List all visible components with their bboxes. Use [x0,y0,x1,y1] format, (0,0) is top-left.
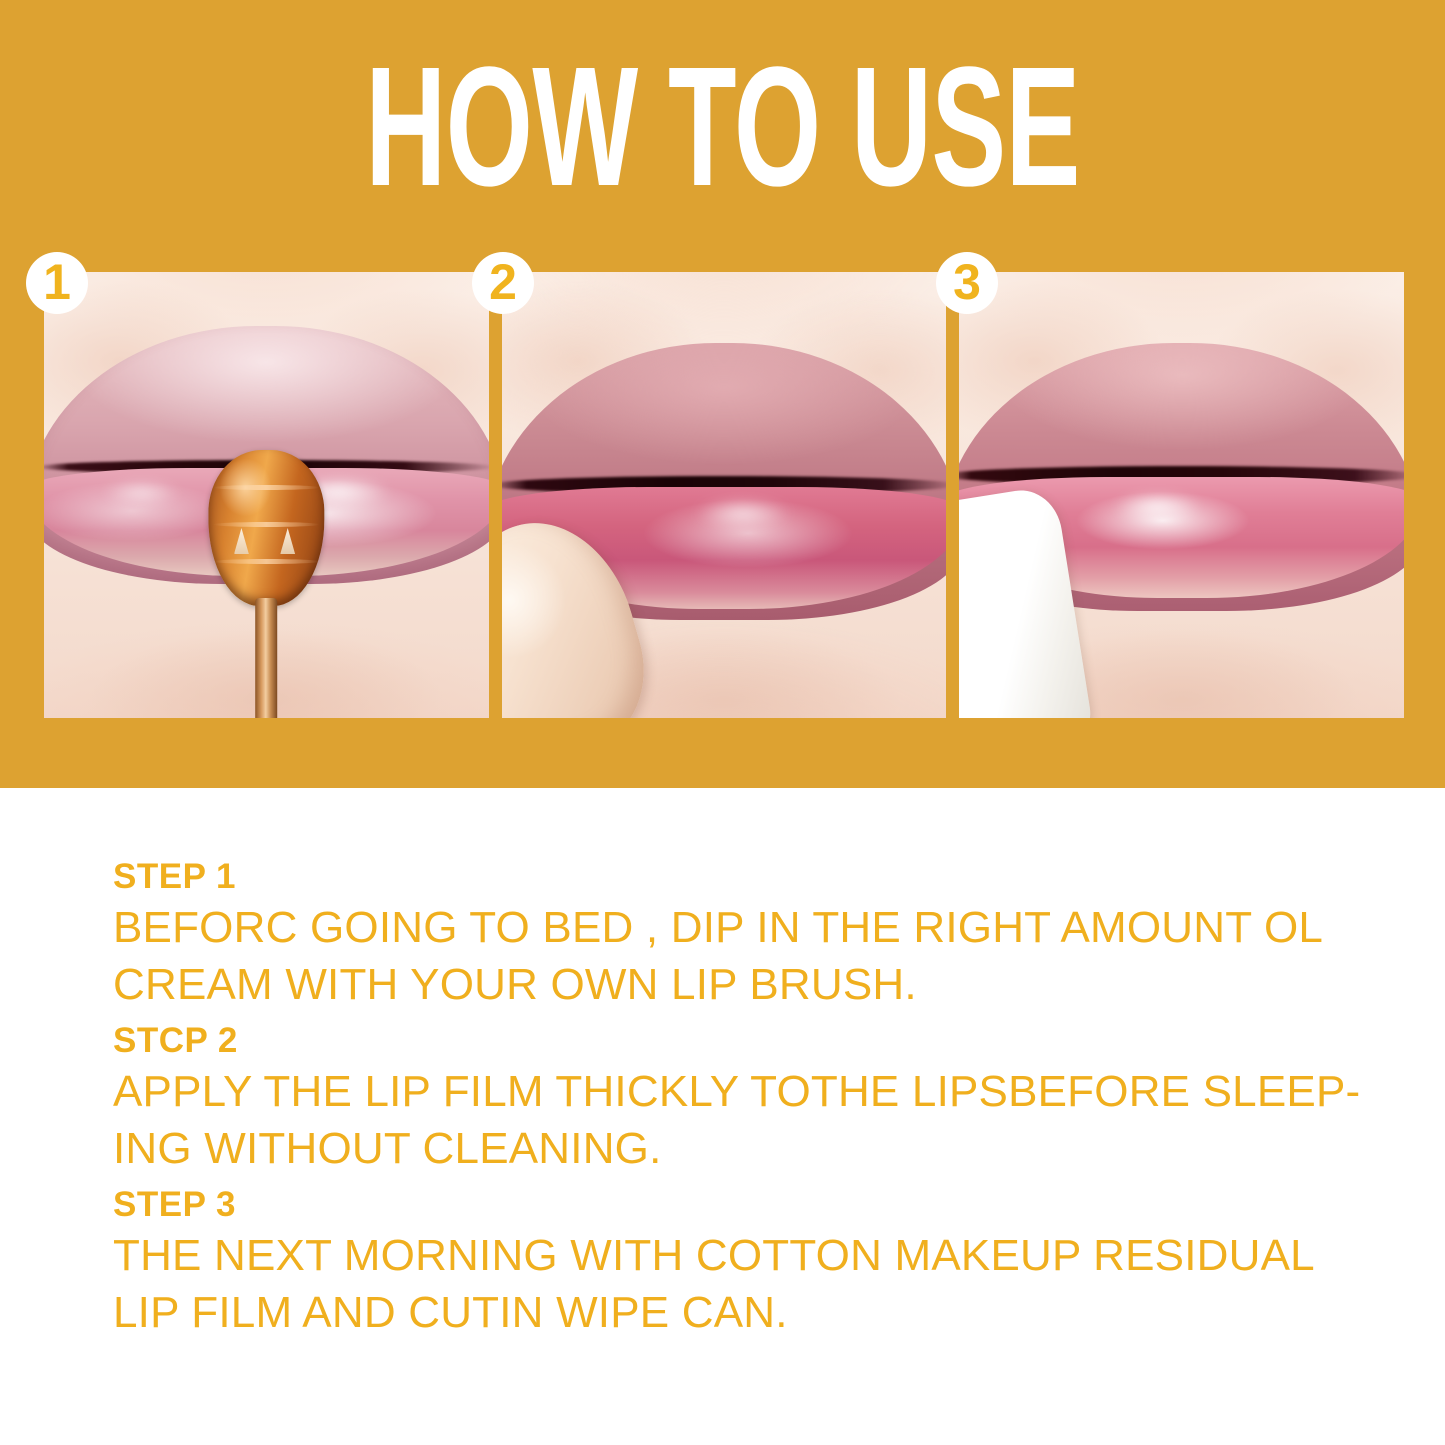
step-description: THE NEXT MORNING WITH COTTON MAKEUP RESI… [113,1227,1368,1341]
applicator-ridge [213,485,319,490]
applicator-notch [234,528,249,554]
step-heading: STCP 2 [113,1019,1368,1063]
instruction-step: STEP 1 BEFORC GOING TO BED , DIP IN THE … [113,855,1368,1013]
lip-applicator-icon [209,450,325,718]
step-photo-1 [44,272,489,718]
photo-strip [44,272,1404,718]
applicator-ridge [213,522,319,527]
step-badge-1: 1 [26,252,88,314]
step-heading: STEP 1 [113,855,1368,899]
instruction-list: STEP 1 BEFORC GOING TO BED , DIP IN THE … [113,855,1368,1347]
page-title: HOW TO USE [246,52,1200,202]
step-photo-3 [959,272,1404,718]
step-badge-2: 2 [472,252,534,314]
applicator-notch [280,528,295,554]
step-heading: STEP 3 [113,1183,1368,1227]
step-badge-3: 3 [936,252,998,314]
step-description: BEFORC GOING TO BED , DIP IN THE RIGHT A… [113,899,1368,1013]
applicator-handle [255,598,277,718]
step-description: APPLY THE LIP FILM THICKLY TOTHE LIPSBEF… [113,1063,1368,1177]
instruction-step: STCP 2 APPLY THE LIP FILM THICKLY TOTHE … [113,1019,1368,1177]
instruction-step: STEP 3 THE NEXT MORNING WITH COTTON MAKE… [113,1183,1368,1341]
lip-gloss-highlight [1114,493,1200,520]
applicator-ridge [213,559,319,564]
applicator-head [209,450,325,605]
step-photo-2 [502,272,947,718]
lip-gloss-highlight [695,498,791,528]
lip-gloss-highlight [103,481,180,504]
how-to-use-page: HOW TO USE [0,0,1445,1445]
